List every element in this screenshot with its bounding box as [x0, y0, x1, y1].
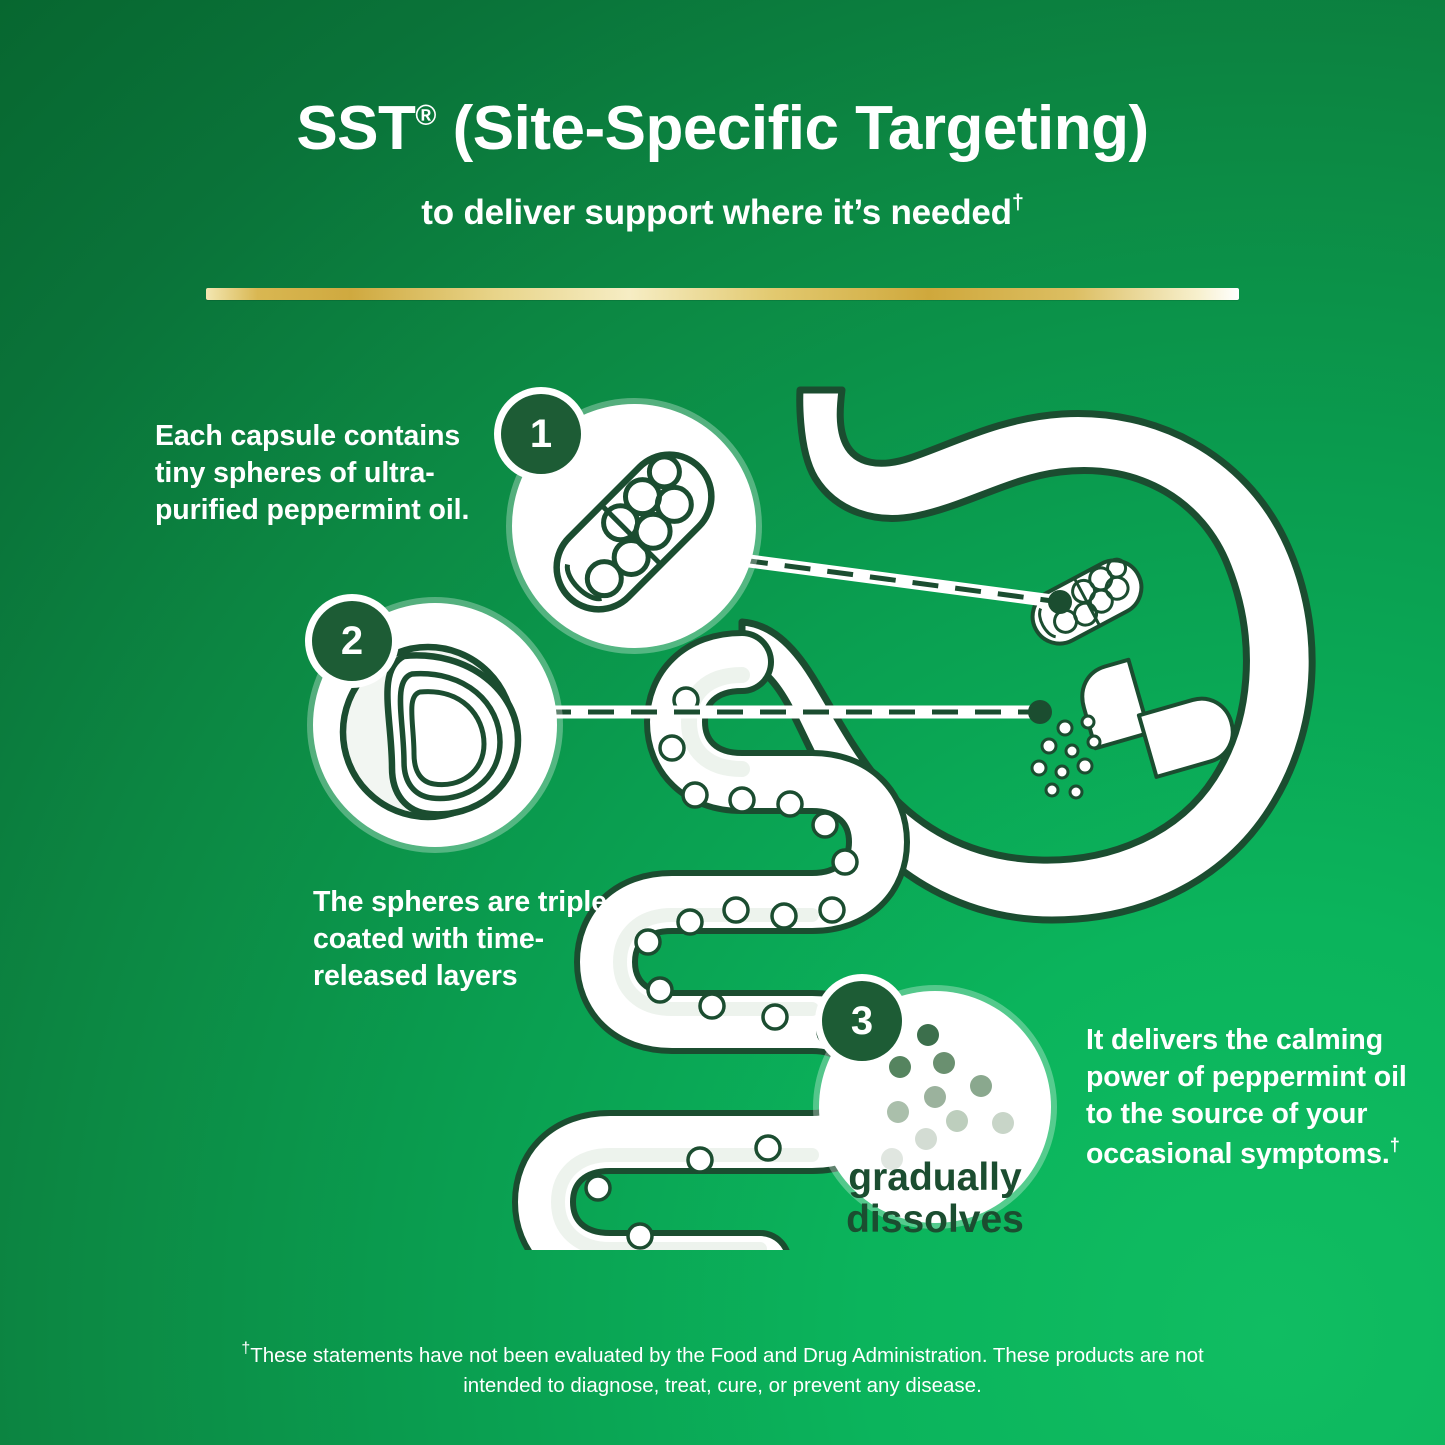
callout-step-3-dagger: †: [1390, 1134, 1400, 1155]
step-3-number: 3: [851, 999, 873, 1043]
title-rest: (Site-Specific Targeting): [436, 94, 1149, 163]
stomach-outline: [742, 390, 1312, 920]
callout-step-3: It delivers the calming power of pepperm…: [1086, 1022, 1416, 1173]
sst-infographic: SST® (Site-Specific Targeting) to delive…: [0, 0, 1445, 1445]
leader-endpoint-1: [1048, 590, 1072, 614]
leader-line-1: [742, 560, 1072, 614]
footer-disclaimer: †These statements have not been evaluate…: [0, 1337, 1445, 1400]
subtitle-text: to deliver support where it’s needed: [421, 193, 1012, 232]
stomach-graphic: [742, 390, 1312, 920]
page-subtitle: to deliver support where it’s needed†: [0, 189, 1445, 233]
step-3-circle: gradually dissolves 3: [813, 974, 1057, 1241]
subtitle-dagger: †: [1012, 189, 1024, 214]
released-granules: [1032, 716, 1100, 798]
footer-dagger: †: [241, 1340, 250, 1357]
step-3-caption-line2: dissolves: [846, 1198, 1024, 1241]
callout-step-1: Each capsule contains tiny spheres of ul…: [155, 418, 485, 529]
header: SST® (Site-Specific Targeting) to delive…: [0, 0, 1445, 233]
opening-capsule-icon: [1032, 660, 1240, 798]
title-main: SST: [296, 94, 415, 163]
step-1-number: 1: [530, 412, 552, 456]
callout-step-2: The spheres are triple-coated with time-…: [313, 884, 633, 995]
step-2-circle: 2: [305, 594, 563, 853]
page-title: SST® (Site-Specific Targeting): [0, 96, 1445, 163]
callout-step-3-text: It delivers the calming power of pepperm…: [1086, 1024, 1407, 1170]
leader-endpoint-2: [1028, 700, 1052, 724]
footer-line-1: These statements have not been evaluated…: [250, 1344, 1050, 1367]
registered-trademark-icon: ®: [415, 100, 436, 132]
step-2-number: 2: [341, 619, 363, 663]
step-1-circle: 1: [494, 387, 762, 654]
gold-divider: [206, 288, 1239, 300]
step-3-caption-line1: gradually: [848, 1156, 1022, 1199]
